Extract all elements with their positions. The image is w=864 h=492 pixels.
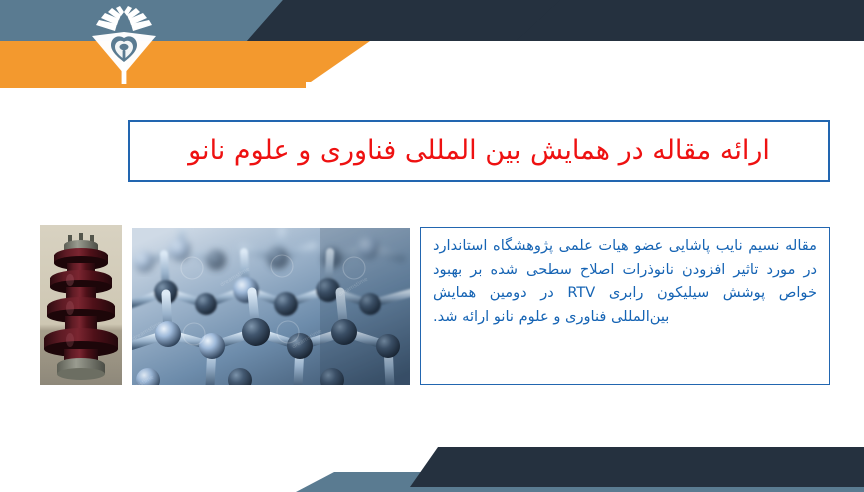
footer-navy-shape (410, 447, 864, 487)
header-navy-rect (283, 0, 516, 41)
header-orange-shape (0, 41, 370, 82)
body-paragraph: مقاله نسیم نایب پاشایی عضو هیات علمی پژو… (433, 234, 817, 329)
institution-book-logo-icon (74, 2, 174, 86)
body-text-box: مقاله نسیم نایب پاشایی عضو هیات علمی پژو… (420, 227, 830, 385)
nano-lattice-image: dreamstime dreamstime dreamstime dreamst… (132, 228, 410, 385)
page-title: ارائه مقاله در همایش بین المللی فناوری و… (188, 135, 770, 166)
slide-canvas: ارائه مقاله در همایش بین المللی فناوری و… (0, 0, 864, 492)
title-box: ارائه مقاله در همایش بین المللی فناوری و… (128, 120, 830, 182)
nano-lattice-photo: dreamstime dreamstime dreamstime dreamst… (132, 228, 410, 385)
ceramic-insulator-photo (40, 225, 122, 385)
footer-shapes-svg (0, 430, 864, 492)
institution-logo (74, 2, 174, 86)
footer-decoration (0, 430, 864, 492)
ceramic-insulator-image (40, 225, 122, 385)
